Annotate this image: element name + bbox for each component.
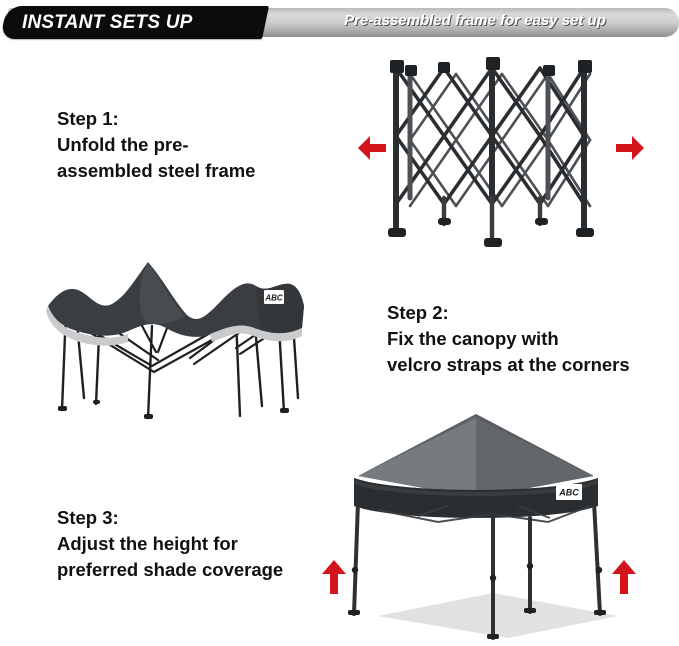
step-1-text-block: Step 1: Unfold the pre- assembled steel …: [57, 106, 255, 184]
arrow-right-icon: [616, 136, 644, 160]
header-banner: Pre-assembled frame for easy set up INST…: [0, 6, 679, 40]
svg-text:ABC: ABC: [264, 294, 283, 303]
step-2-line-3: velcro straps at the corners: [387, 352, 630, 378]
step-1-heading: Step 1:: [57, 106, 255, 132]
leg-adjust-buttons: [352, 563, 602, 581]
step-3-line-3: preferred shade coverage: [57, 557, 283, 583]
banner-title: INSTANT SETS UP: [22, 6, 193, 39]
brand-logo-patch-erected: ABC: [556, 484, 582, 500]
brand-logo-patch: ABC: [264, 290, 284, 304]
scissor-truss-frame: [396, 64, 590, 244]
step-1-line-2: Unfold the pre-: [57, 132, 255, 158]
arrow-left-icon: [358, 136, 386, 160]
step-3-line-2: Adjust the height for: [57, 531, 283, 557]
svg-text:ABC: ABC: [558, 488, 579, 498]
draped-canopy-illustration: ABC: [40, 248, 340, 443]
arrow-up-left-icon: [322, 560, 346, 594]
step-2-heading: Step 2:: [387, 300, 630, 326]
ground-shadow: [378, 593, 618, 638]
folded-frame-illustration: [352, 48, 652, 263]
arrow-up-right-icon: [612, 560, 636, 594]
step-2-text-block: Step 2: Fix the canopy with velcro strap…: [387, 300, 630, 378]
step-1-line-3: assembled steel frame: [57, 158, 255, 184]
lowered-frame-feet: [58, 400, 289, 419]
erected-canopy-illustration: ABC: [318, 398, 668, 646]
step-3-heading: Step 3:: [57, 505, 283, 531]
step-3-text-block: Step 3: Adjust the height for preferred …: [57, 505, 283, 583]
step-2-line-2: Fix the canopy with: [387, 326, 630, 352]
banner-tagline: Pre-assembled frame for easy set up: [290, 6, 660, 35]
